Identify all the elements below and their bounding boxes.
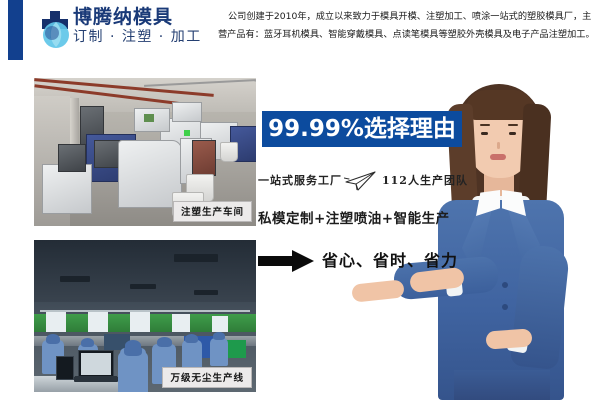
worker — [210, 338, 228, 366]
ceiling-vent — [60, 276, 90, 282]
paper-plane-icon — [344, 170, 378, 192]
service-formula: 私模定制+注塑喷油+智能生产 — [258, 207, 450, 227]
worker-cap — [46, 334, 60, 344]
ceiling-vent — [130, 284, 156, 289]
indicator-light — [144, 114, 154, 122]
keyboard — [74, 376, 118, 382]
right-arrow-icon — [258, 250, 314, 272]
workstation-panel — [172, 314, 190, 332]
workstation-panel — [212, 316, 228, 332]
cleanroom-ceiling — [34, 240, 256, 302]
eyebrow-right — [508, 124, 518, 126]
brand-text: 博腾纳模具 订制 · 注塑 · 加工 — [73, 6, 213, 47]
nose — [497, 142, 500, 149]
mouth — [490, 154, 506, 160]
blazer-button — [502, 282, 508, 288]
highlights-row: 一站式服务工厂 112人生产团队 — [258, 170, 498, 194]
company-name: 博腾纳模具 — [73, 6, 213, 28]
company-description: 公司创建于2010年，成立以来致力于模具开模、注塑加工、喷涂一站式的塑胶模具厂，… — [218, 8, 596, 44]
worker-cap — [81, 338, 94, 347]
molding-machine-red — [192, 140, 216, 176]
computer-tower — [56, 356, 74, 380]
worker-foreground — [118, 352, 148, 392]
header-accent-bar — [8, 0, 23, 60]
worker-cap — [213, 332, 225, 340]
photo-caption: 万级无尘生产线 — [162, 367, 252, 388]
hand-right — [485, 328, 532, 349]
poster-page: 博腾纳模具 订制 · 注塑 · 加工 公司创建于2010年，成立以来致力于模具开… — [0, 0, 600, 400]
plastic-bucket — [220, 142, 238, 162]
highlight-left-label: 一站式服务工厂 — [258, 172, 342, 188]
workstation-panel — [46, 312, 66, 332]
photo-injection-molding-workshop: 注塑生产车间 — [34, 78, 256, 226]
headline-banner: 99.99%选择理由 — [262, 111, 462, 147]
photo-dust-free-production-line: 万级无尘生产线 — [34, 240, 256, 392]
machine-hopper — [58, 144, 86, 172]
worker-cap — [185, 334, 198, 343]
highlight-right-label: 112人生产团队 — [382, 172, 468, 188]
computer-monitor — [78, 350, 114, 378]
page-header: 博腾纳模具 订制 · 注塑 · 加工 公司创建于2010年，成立以来致力于模具开… — [0, 0, 600, 62]
workstation-panel — [88, 312, 108, 332]
eye-left — [481, 132, 488, 135]
benefits-text: 省心、省时、省力 — [322, 247, 458, 271]
brand-logo[interactable]: 博腾纳模具 订制 · 注塑 · 加工 — [37, 6, 212, 58]
droplet-cross-logo-icon — [37, 9, 71, 53]
worker-cap — [124, 344, 142, 356]
ceiling-vent — [194, 290, 218, 295]
skirt — [454, 370, 550, 400]
hand-left-extended — [351, 279, 405, 302]
machine-top-unit — [172, 102, 202, 122]
ceiling-vent — [174, 254, 218, 262]
eyebrow-left — [480, 124, 490, 126]
company-tagline: 订制 · 注塑 · 加工 — [73, 28, 213, 47]
worker-cap — [157, 337, 172, 347]
company-description-line1: 公司创建于2010年，成立以来致力于模具开模、注塑加工、喷涂一站式的塑胶模具厂，… — [218, 8, 596, 26]
photo-caption: 注塑生产车间 — [173, 201, 252, 222]
workstation-panel — [130, 312, 150, 332]
blazer-button — [502, 304, 508, 310]
headline-text: 99.99%选择理由 — [262, 111, 462, 147]
benefits-row: 省心、省时、省力 — [258, 246, 508, 278]
company-description-line2: 营产品有：蓝牙耳机模具、智能穿戴模具、点读笔模具等塑胶外壳模具及电子产品注塑加工… — [218, 26, 596, 44]
eye-right — [509, 132, 516, 135]
indicator-light — [184, 130, 190, 136]
